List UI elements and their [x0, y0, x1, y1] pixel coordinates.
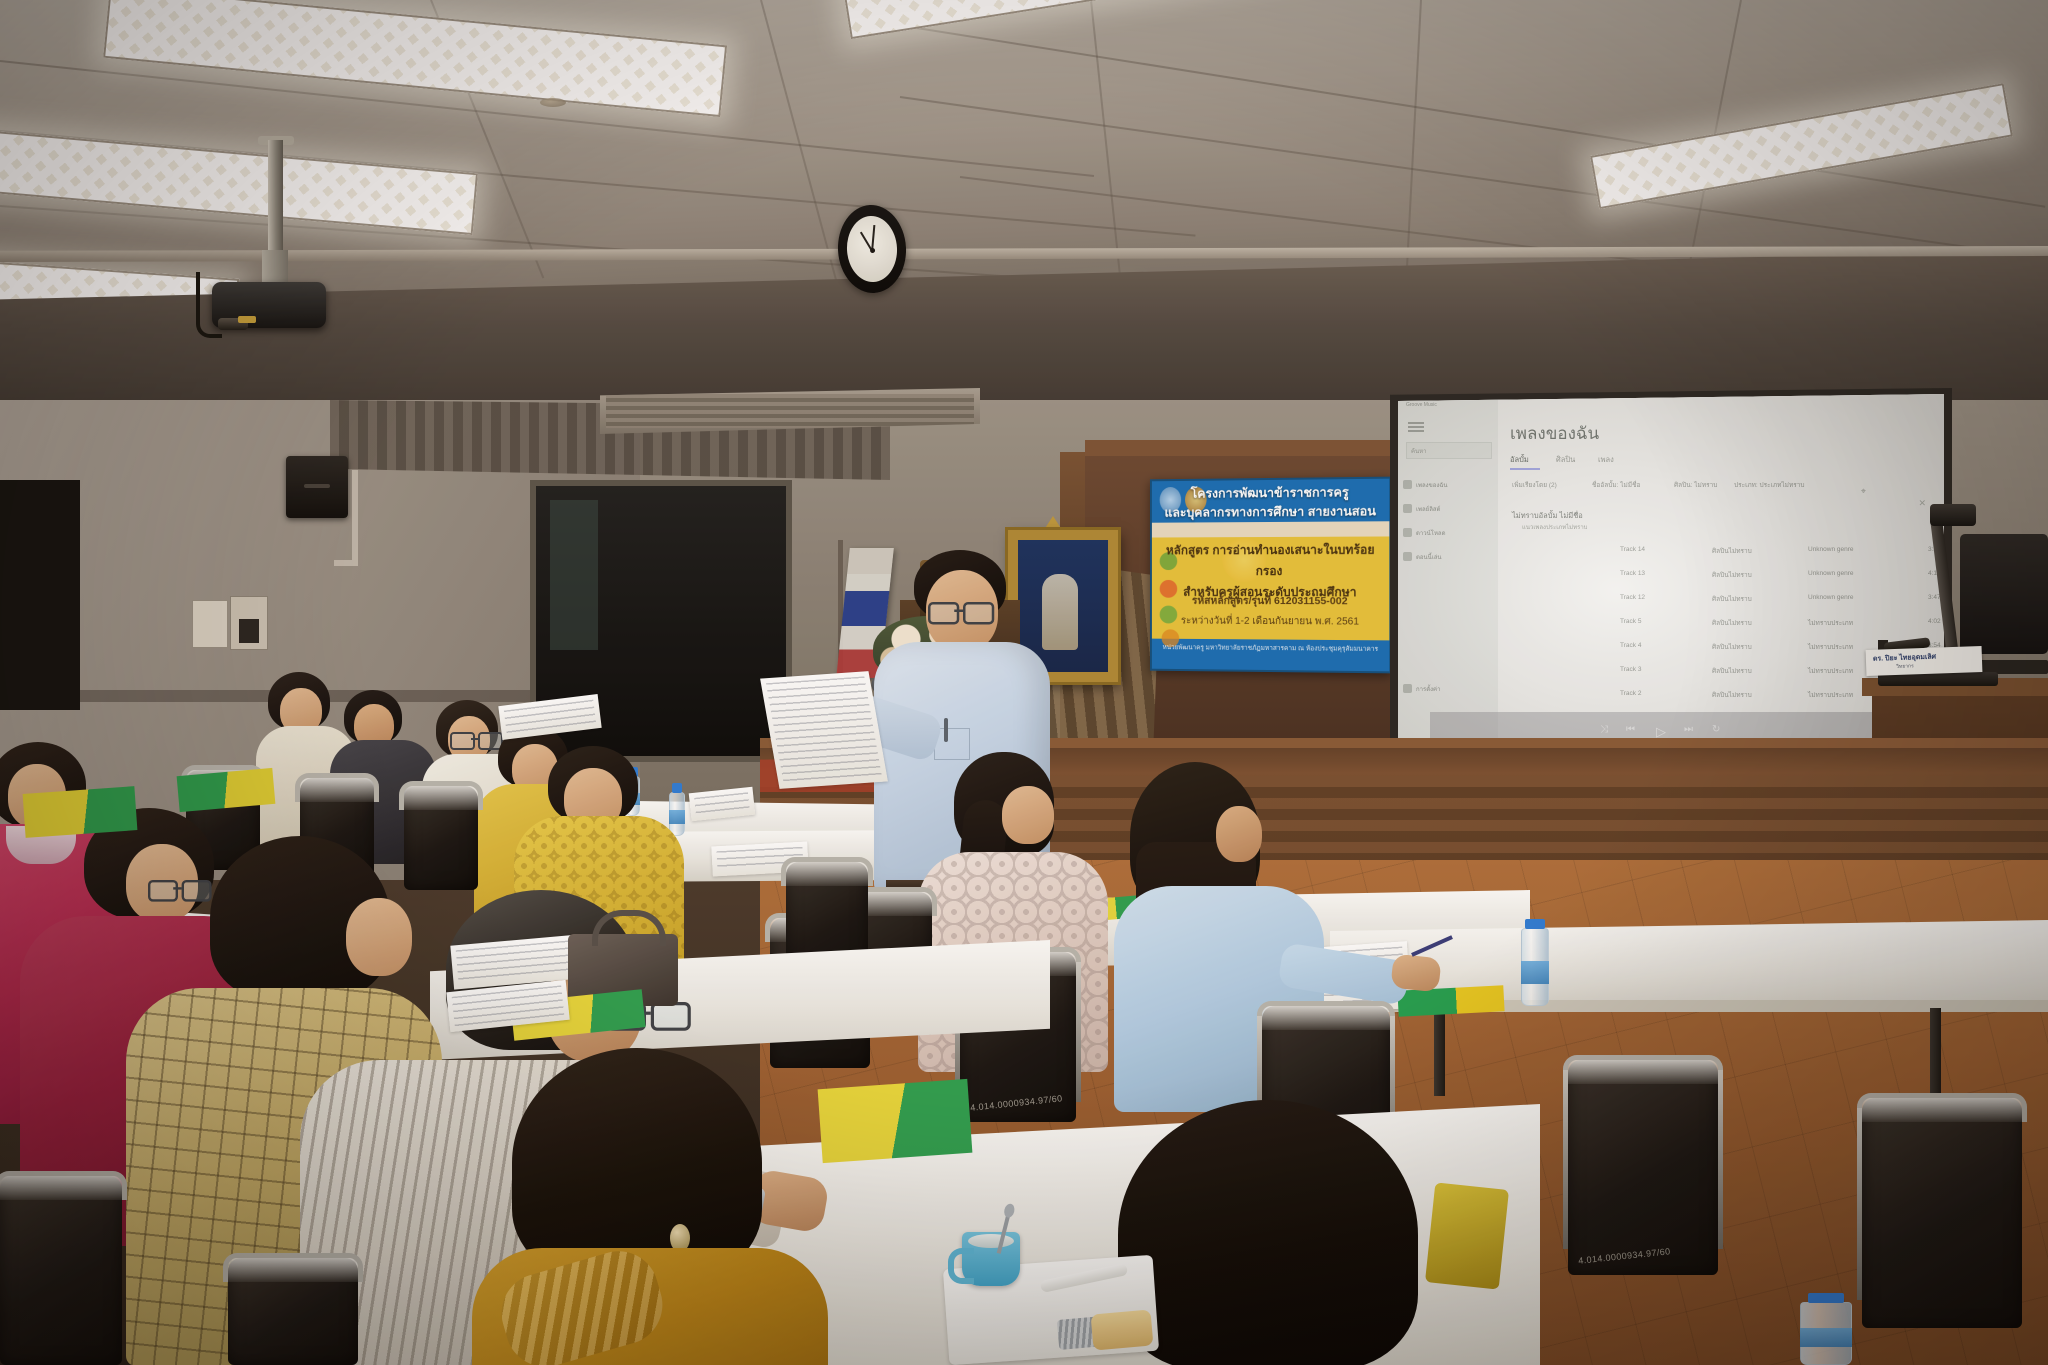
tab-songs[interactable]: เพลง	[1598, 454, 1614, 466]
filter-chip-artist[interactable]: ศิลปิน: ไม่ทราบ	[1674, 480, 1717, 490]
repeat-icon[interactable]: ↻	[1712, 724, 1720, 735]
water-bottle	[1521, 928, 1549, 1006]
track-genre: ไม่ทราบประเภท	[1808, 690, 1853, 700]
table-row[interactable]: Track 5 ศิลปินไม่ทราบ ไม่ทราบประเภท 4:02	[1608, 618, 1944, 642]
pastry	[1091, 1309, 1154, 1350]
table-row[interactable]: Track 13 ศิลปินไม่ทราบ Unknown genre 4:1…	[1608, 570, 1944, 594]
presenter-monitor	[1960, 534, 2048, 654]
track-genre: Unknown genre	[1808, 546, 1854, 553]
folder	[23, 786, 138, 838]
track-genre: ไม่ทราบประเภท	[1808, 642, 1853, 652]
tab-active-underline	[1510, 468, 1540, 470]
track-genre: Unknown genre	[1808, 570, 1854, 577]
gear-icon	[1403, 684, 1412, 693]
filter-chip-album[interactable]: ชื่ออัลบั้ม: ไม่มีชื่อ	[1592, 480, 1640, 490]
search-placeholder: ค้นหา	[1411, 446, 1426, 456]
track-title: Track 2	[1620, 690, 1641, 697]
dark-alcove	[0, 480, 80, 710]
close-icon[interactable]: ✕	[1918, 498, 1926, 509]
next-icon[interactable]: ⏭	[1684, 724, 1693, 735]
filter-chip-sort[interactable]: เพิ่มเรียงโดย (2)	[1512, 480, 1557, 490]
projected-music-app: Groove Music ค้นหา เพลงของฉัน เพลย์ลิสต์…	[1398, 394, 1944, 756]
hamburger-menu-icon[interactable]	[1408, 422, 1424, 433]
track-artist: ศิลปินไม่ทราบ	[1712, 570, 1752, 580]
track-title: Track 13	[1620, 570, 1645, 577]
mouse-cursor-icon: ⌖	[1861, 486, 1866, 497]
head	[346, 898, 412, 976]
wall-outlet-plate[interactable]	[230, 596, 268, 650]
track-artist: ศิลปินไม่ทราบ	[1712, 666, 1752, 676]
chair[interactable]	[1862, 1098, 2022, 1328]
folder	[818, 1079, 973, 1163]
water-bottle	[1800, 1302, 1852, 1365]
wall-switch-plate[interactable]	[192, 600, 228, 648]
track-time: 4:02	[1928, 618, 1941, 625]
folder	[1397, 985, 1504, 1017]
track-title: Track 12	[1620, 594, 1645, 601]
hair	[512, 1048, 762, 1278]
track-artist: ศิลปินไม่ทราบ	[1712, 642, 1752, 652]
track-title: Track 5	[1620, 618, 1641, 625]
album-genre: แนวเพลงประเภทไม่ทราบ	[1522, 522, 1588, 532]
banner-course-title: หลักสูตร การอ่านทำนองเสนาะในบทร้อยกรอง ส…	[1152, 540, 1389, 589]
track-title: Track 4	[1620, 642, 1641, 649]
placard-role: วิทยากร	[1896, 662, 1914, 671]
table-row[interactable]: Track 12 ศิลปินไม่ทราบ Unknown genre 3:4…	[1608, 594, 1944, 618]
track-artist: ศิลปินไม่ทราบ	[1712, 594, 1752, 604]
tab-albums[interactable]: อัลบั้ม	[1510, 454, 1529, 466]
tab-artists[interactable]: ศิลปิน	[1556, 454, 1575, 466]
presenter-documents	[760, 671, 888, 789]
sidebar-item-my-music[interactable]: เพลงของฉัน	[1416, 480, 1447, 490]
wall-conduit	[334, 560, 358, 566]
track-title: Track 3	[1620, 666, 1641, 673]
coffee-cup	[962, 1232, 1020, 1286]
wall-conduit	[352, 470, 358, 566]
download-icon	[1403, 528, 1412, 537]
chair[interactable]	[404, 786, 478, 890]
sidebar-item-downloads[interactable]: ดาวน์โหลด	[1416, 528, 1446, 538]
playlist-icon	[1403, 504, 1412, 513]
handbag	[1425, 1182, 1509, 1289]
table-leg	[1930, 1008, 1941, 1100]
chair[interactable]	[228, 1258, 358, 1365]
track-artist: ศิลปินไม่ทราบ	[1712, 690, 1752, 700]
event-banner: โครงการพัฒนาข้าราชการครู และบุคลากรทางกา…	[1150, 477, 1391, 674]
track-genre: ไม่ทราบประเภท	[1808, 618, 1853, 628]
smoke-detector	[540, 98, 566, 107]
wall-speaker	[286, 456, 348, 518]
app-sidebar: Groove Music ค้นหา เพลงของฉัน เพลย์ลิสต์…	[1398, 394, 1498, 756]
previous-icon[interactable]: ⏮	[1626, 724, 1635, 735]
app-sidebar-header: Groove Music	[1406, 402, 1437, 408]
track-genre: ไม่ทราบประเภท	[1808, 666, 1853, 676]
search-input[interactable]: ค้นหา	[1406, 442, 1492, 459]
cup-interior	[968, 1234, 1014, 1248]
banner-organizer: หน่วยพัฒนาครู มหาวิทยาลัยราชภัฏมหาสารคาม…	[1152, 642, 1389, 654]
banner-course-code: รหัสหลักสูตร/รุ่นที่ 612031155-002	[1152, 592, 1389, 610]
hand	[1390, 954, 1441, 993]
track-artist: ศิลปินไม่ทราบ	[1712, 618, 1752, 628]
sidebar-item-playlists[interactable]: เพลย์ลิสต์	[1416, 504, 1440, 514]
head	[1216, 806, 1262, 862]
banner-project-title: โครงการพัฒนาข้าราชการครู และบุคลากรทางกา…	[1152, 481, 1389, 523]
chair[interactable]: 4.014.0000934.97/60	[1568, 1060, 1718, 1275]
presenter-name-placard: ดร. ปิยะ ไทยอุดมเลิศ วิทยากร	[1866, 646, 1983, 676]
now-playing-icon	[1403, 552, 1412, 561]
shuffle-icon[interactable]: ⤨	[1600, 724, 1608, 735]
document-camera-head	[1930, 504, 1976, 526]
filter-chip-genre[interactable]: ประเภท: ประเภทไม่ทราบ	[1734, 480, 1805, 490]
chair[interactable]	[0, 1176, 122, 1365]
hair	[1118, 1100, 1418, 1365]
cup-handle	[948, 1248, 974, 1284]
album-name: ไม่ทราบอัลบั้ม ไม่มีชื่อ	[1512, 510, 1583, 522]
track-title: Track 14	[1620, 546, 1645, 553]
water-bottle	[669, 792, 685, 836]
table-row[interactable]: Track 14 ศิลปินไม่ทราบ Unknown genre 3:2…	[1608, 546, 1944, 570]
pen-in-pocket	[944, 718, 948, 742]
track-artist: ศิลปินไม่ทราบ	[1712, 546, 1752, 556]
page-title: เพลงของฉัน	[1510, 420, 1599, 447]
head	[1002, 786, 1054, 844]
track-genre: Unknown genre	[1808, 594, 1854, 601]
seminar-room-photo: โครงการพัฒนาข้าราชการครู และบุคลากรทางกา…	[0, 0, 2048, 1365]
sidebar-item-settings[interactable]: การตั้งค่า	[1416, 684, 1440, 694]
music-note-icon	[1403, 480, 1412, 489]
sidebar-item-now-playing[interactable]: ตอนนี้เล่น	[1416, 552, 1442, 562]
banner-date: ระหว่างวันที่ 1-2 เดือนกันยายน พ.ศ. 2561	[1152, 613, 1389, 629]
